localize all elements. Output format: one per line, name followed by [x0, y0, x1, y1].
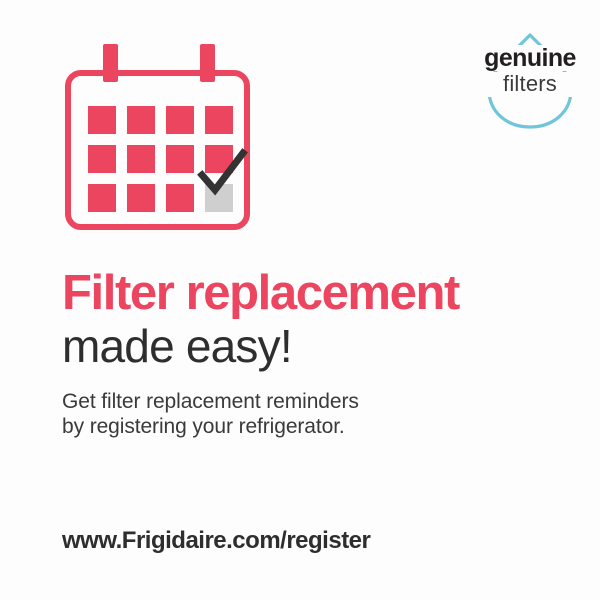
logo-word-filters: filters	[470, 72, 590, 97]
calendar-day-cell	[205, 145, 233, 173]
calendar-day-grid	[88, 106, 233, 212]
promo-poster: genuine filters Filter replacement	[0, 0, 600, 600]
cta-url[interactable]: www.Frigidaire.com/register	[62, 527, 370, 555]
calendar-day-cell	[166, 145, 194, 173]
logo-word-genuine: genuine	[470, 45, 590, 71]
calendar-day-cell	[127, 145, 155, 173]
subcopy-line-2: by registering your refrigerator.	[62, 414, 522, 439]
calendar-day-cell	[127, 106, 155, 134]
headline-line-2: made easy!	[62, 320, 562, 372]
calendar-day-cell	[88, 106, 116, 134]
calendar-day-cell	[88, 184, 116, 212]
calendar-check-icon	[60, 44, 260, 239]
subcopy-line-1: Get filter replacement reminders	[62, 389, 522, 414]
headline-line-1: Filter replacement	[62, 266, 562, 320]
genuine-filters-logo: genuine filters	[470, 22, 590, 132]
calendar-day-cell	[127, 184, 155, 212]
calendar-day-cell	[205, 106, 233, 134]
calendar-day-cell-checked	[205, 184, 233, 212]
page-title: Filter replacement made easy!	[62, 266, 562, 372]
logo-wordmark: genuine filters	[470, 45, 590, 97]
calendar-day-cell	[166, 184, 194, 212]
subcopy: Get filter replacement reminders by regi…	[62, 389, 522, 439]
calendar-day-cell	[166, 106, 194, 134]
calendar-day-cell	[88, 145, 116, 173]
